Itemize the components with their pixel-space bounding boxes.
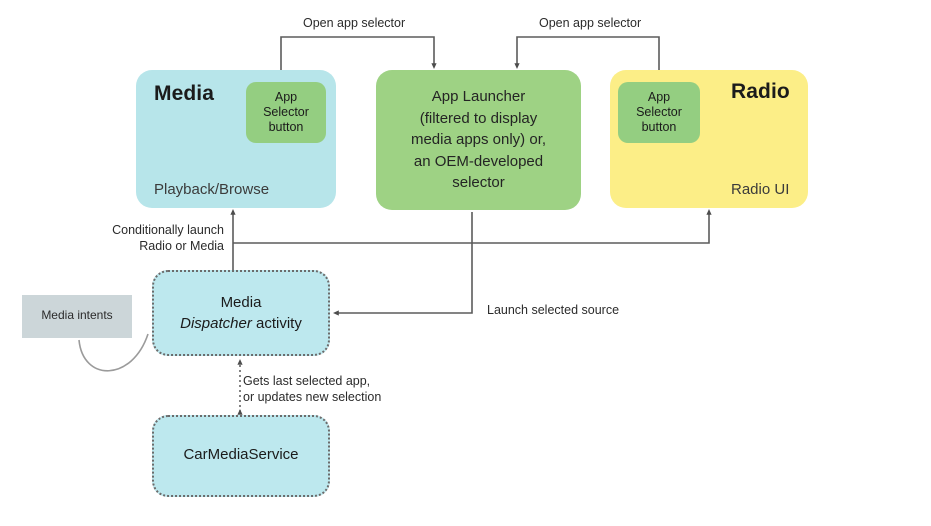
edge-label-gets-last-selected-app: Gets last selected app, or updates new s… (243, 373, 381, 405)
radio-footer-label: Radio UI (731, 181, 789, 198)
radio-app-selector-button[interactable]: App Selector button (618, 82, 700, 143)
diagram-canvas: Media Playback/Browse App Selector butto… (0, 0, 931, 526)
media-intents-label: Media intents (22, 308, 132, 322)
media-footer-label: Playback/Browse (154, 181, 269, 198)
dispatcher-line-1: Media (221, 294, 262, 311)
app-launcher-label: App Launcher (filtered to display media … (376, 86, 581, 194)
radio-title: Radio (731, 80, 790, 104)
dispatcher-line-2-emphasis: Dispatcher (180, 315, 252, 332)
media-dispatcher-label: Media Dispatcher activity (152, 292, 330, 334)
edge-label-open-app-selector-right: Open app selector (539, 16, 641, 31)
media-app-selector-button[interactable]: App Selector button (246, 82, 326, 143)
media-title: Media (154, 82, 214, 106)
edge-label-open-app-selector-left: Open app selector (303, 16, 405, 31)
dispatcher-line-2-rest: activity (252, 315, 302, 332)
edge-label-launch-selected-source: Launch selected source (487, 303, 619, 318)
carmediaservice-label: CarMediaService (152, 446, 330, 463)
edge-label-conditionally-launch: Conditionally launch Radio or Media (100, 222, 224, 254)
